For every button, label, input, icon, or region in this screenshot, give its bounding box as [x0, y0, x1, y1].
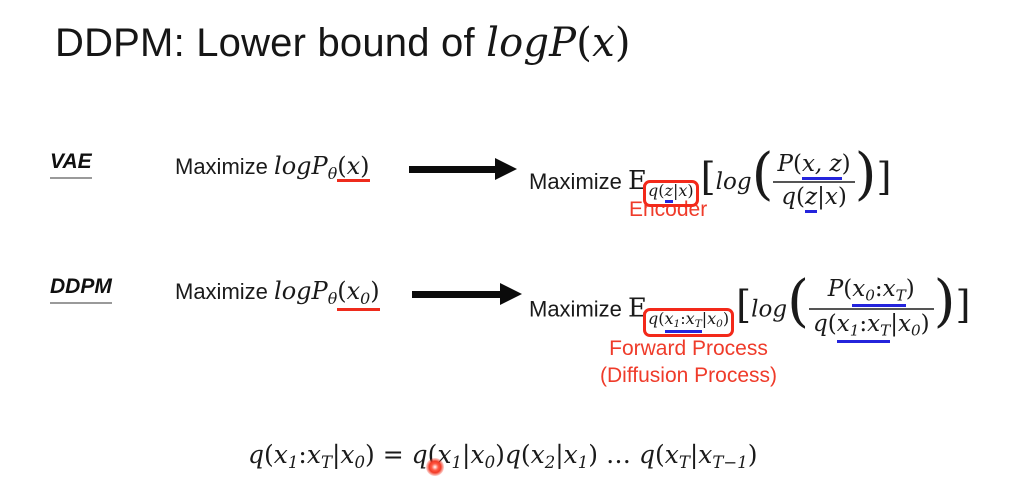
- vae-fraction: P(x, z)q(z|x): [773, 151, 854, 213]
- forward-process-factorization-equation: q(x1:xT|x0) = q(x1|x0)q(x2|x1) … q(xT|xT…: [248, 440, 758, 472]
- ddpm-maximize-word: Maximize: [175, 279, 268, 304]
- vae-left-highlight: (x): [337, 154, 369, 182]
- ddpm-fraction-denominator: q(x1:xT|x0): [809, 308, 934, 343]
- vae-elbo-expression: Maximize Eq(z|x)[log(P(x, z)q(z|x))]: [529, 152, 892, 214]
- ddpm-expectation-subscript-wrapper: q(x1:xT|x0): [643, 309, 734, 328]
- vae-log-op: log: [716, 169, 752, 195]
- ddpm-right-maximize-word: Maximize: [529, 297, 622, 322]
- vae-paren-open: (: [752, 142, 774, 207]
- ddpm-theta-subscript: θ: [328, 289, 338, 308]
- ddpm-sub-underline: x1:xT: [665, 311, 702, 334]
- title-paren-open: (: [576, 20, 592, 66]
- vae-sub-z-underline: z: [665, 183, 673, 203]
- ddpm-elbo-expression: Maximize Eq(x1:xT|x0)[log(P(x0:xT)q(x1:x…: [529, 277, 971, 344]
- vae-expectation-subscript-wrapper: q(z|x): [643, 181, 699, 200]
- slide-title-math: logP(x): [486, 20, 631, 66]
- vae-theta-subscript: θ: [328, 164, 338, 183]
- vae-fraction-numerator: P(x, z): [773, 151, 854, 181]
- vae-right-maximize-word: Maximize: [529, 169, 622, 194]
- vae-den-underline: z: [805, 186, 817, 213]
- ddpm-arrow-head: [500, 283, 522, 305]
- equation-equals-sign: =: [383, 440, 404, 469]
- ddpm-bracket-open: [: [736, 283, 751, 328]
- vae-arrow-head: [495, 158, 517, 180]
- vae-left-math: logPθ(x): [274, 152, 369, 180]
- vae-encoder-redbox: q(z|x): [643, 180, 699, 207]
- ddpm-left-math: logPθ(x0): [274, 277, 380, 305]
- slide-title: DDPM: Lower bound of logP(x): [55, 20, 631, 66]
- ddpm-den-underline: x1:xT: [837, 313, 891, 343]
- ddpm-right-arrow-icon: [412, 283, 522, 305]
- ddpm-log-op: log: [751, 297, 787, 323]
- row-label-ddpm: DDPM: [50, 275, 112, 304]
- title-paren-close: ): [615, 20, 631, 66]
- ddpm-fraction: P(x0:xT)q(x1:xT|x0): [809, 276, 934, 343]
- vae-num-underline: x, z: [802, 153, 842, 180]
- vae-left-objective: Maximize logPθ(x): [175, 152, 370, 183]
- ddpm-paren-close: ): [934, 269, 956, 334]
- vae-bracket-open: [: [701, 155, 716, 200]
- ddpm-bracket-close: ]: [955, 283, 970, 328]
- vae-bracket-close: ]: [877, 155, 892, 200]
- vae-arrow-shaft: [409, 166, 497, 173]
- ddpm-left-objective: Maximize logPθ(x0): [175, 277, 380, 311]
- row-label-vae: VAE: [50, 150, 92, 179]
- forward-process-line-1: Forward Process: [600, 336, 777, 363]
- vae-fraction-denominator: q(z|x): [773, 181, 854, 213]
- ddpm-num-underline: x0:xT: [852, 278, 906, 308]
- vae-right-arrow-icon: [409, 158, 517, 180]
- equation-ellipsis: …: [606, 440, 631, 469]
- slide-title-text: DDPM: Lower bound of: [55, 21, 486, 65]
- ddpm-paren-open: (: [787, 269, 809, 334]
- forward-process-annotation: Forward Process (Diffusion Process): [600, 336, 777, 390]
- ddpm-arrow-shaft: [412, 291, 502, 298]
- ddpm-left-highlight: (x0): [337, 279, 379, 311]
- ddpm-fraction-numerator: P(x0:xT): [809, 276, 934, 309]
- forward-process-line-2: (Diffusion Process): [600, 363, 777, 390]
- ddpm-forward-process-redbox: q(x1:xT|x0): [643, 308, 734, 338]
- vae-maximize-word: Maximize: [175, 154, 268, 179]
- vae-paren-close: ): [855, 142, 877, 207]
